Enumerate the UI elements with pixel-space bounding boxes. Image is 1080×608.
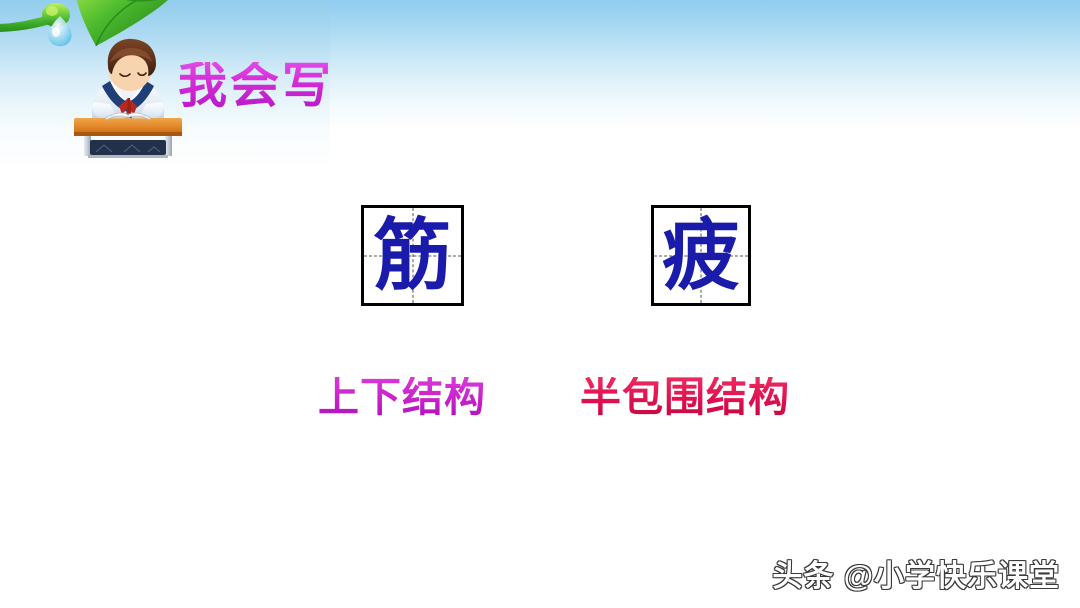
slide-canvas: 我会写 筋 疲 上下结构 半包围结构 头条 @小学快乐课堂 bbox=[0, 0, 1080, 608]
student-writing-at-desk-illustration bbox=[70, 36, 186, 160]
watermark-text: 头条 @小学快乐课堂 bbox=[772, 562, 1060, 592]
structure-label-2: 半包围结构 bbox=[580, 377, 790, 418]
character-grid-box-2: 疲 bbox=[651, 205, 751, 306]
page-title: 我会写 bbox=[178, 62, 334, 111]
character-glyph-2: 疲 bbox=[654, 208, 748, 303]
character-glyph-1: 筋 bbox=[364, 208, 461, 303]
structure-label-1: 上下结构 bbox=[318, 377, 486, 418]
character-grid-box-1: 筋 bbox=[361, 205, 464, 306]
